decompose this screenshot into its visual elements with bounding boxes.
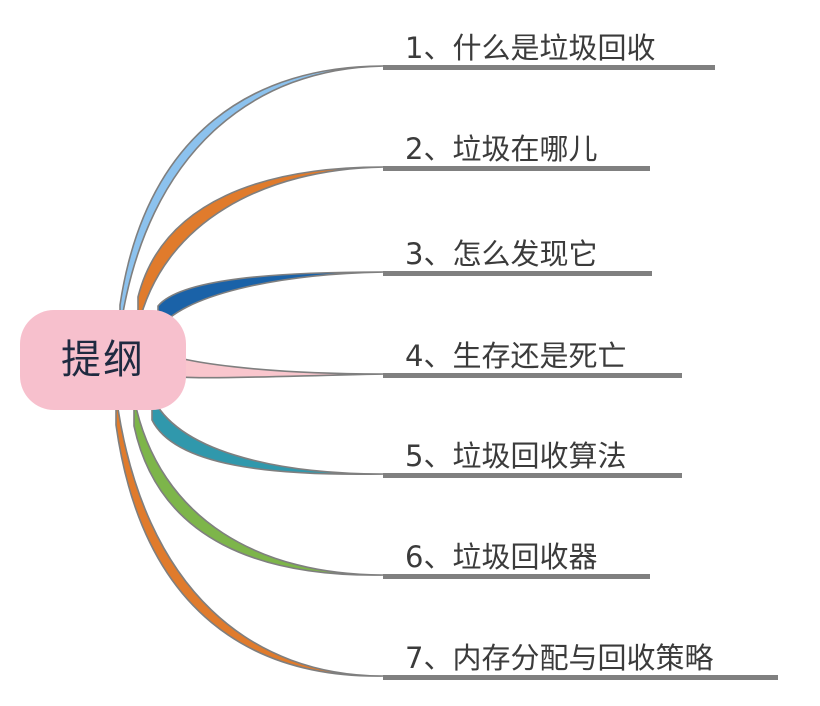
topic-underline-1 bbox=[383, 65, 715, 70]
topic-label-2: 2、垃圾在哪儿 bbox=[405, 135, 597, 164]
branch-1[interactable] bbox=[120, 66, 383, 331]
topic-2[interactable]: 2、垃圾在哪儿 bbox=[383, 115, 650, 171]
topic-underline-3 bbox=[383, 271, 652, 276]
topic-7[interactable]: 7、内存分配与回收策略 bbox=[383, 624, 778, 680]
branch-3[interactable] bbox=[158, 272, 383, 330]
topic-label-7: 7、内存分配与回收策略 bbox=[405, 644, 713, 673]
root-node[interactable]: 提纲 bbox=[20, 310, 186, 410]
topic-label-4: 4、生存还是死亡 bbox=[405, 342, 626, 371]
topic-label-3: 3、怎么发现它 bbox=[405, 240, 597, 269]
root-node-label: 提纲 bbox=[61, 340, 145, 380]
branch-5[interactable] bbox=[152, 396, 383, 474]
topic-label-5: 5、垃圾回收算法 bbox=[405, 442, 626, 471]
topic-label-6: 6、垃圾回收器 bbox=[405, 543, 597, 572]
topic-underline-5 bbox=[383, 473, 682, 478]
topic-underline-4 bbox=[383, 373, 682, 378]
topic-label-1: 1、什么是垃圾回收 bbox=[405, 34, 655, 63]
topic-underline-7 bbox=[383, 675, 778, 680]
topic-4[interactable]: 4、生存还是死亡 bbox=[383, 322, 682, 378]
topic-6[interactable]: 6、垃圾回收器 bbox=[383, 523, 650, 579]
topic-underline-2 bbox=[383, 166, 650, 171]
topic-5[interactable]: 5、垃圾回收算法 bbox=[383, 422, 682, 478]
topic-1[interactable]: 1、什么是垃圾回收 bbox=[383, 14, 715, 70]
topic-underline-6 bbox=[383, 574, 650, 579]
branch-7[interactable] bbox=[116, 395, 383, 676]
topic-3[interactable]: 3、怎么发现它 bbox=[383, 220, 652, 276]
mindmap-canvas: 提纲 1、什么是垃圾回收2、垃圾在哪儿3、怎么发现它4、生存还是死亡5、垃圾回收… bbox=[0, 0, 820, 706]
